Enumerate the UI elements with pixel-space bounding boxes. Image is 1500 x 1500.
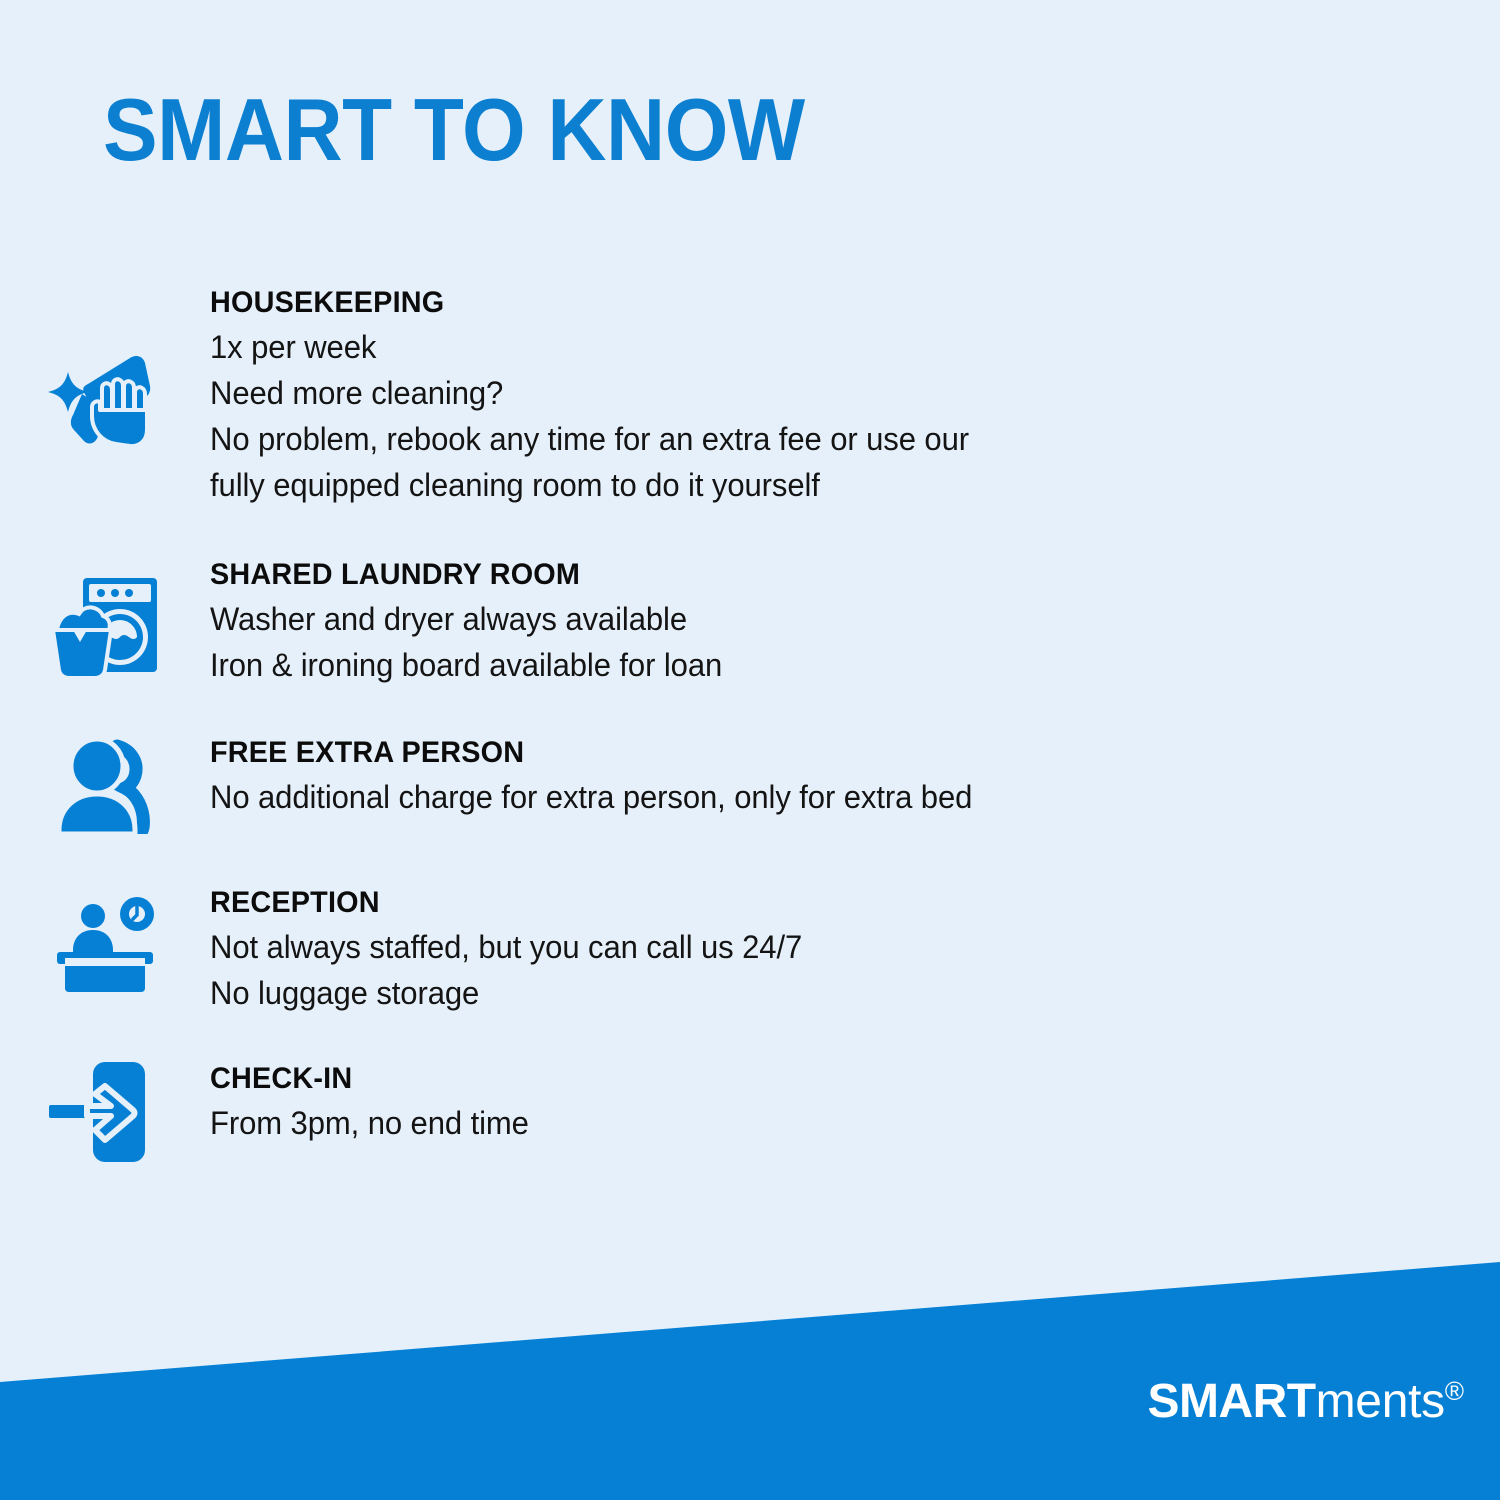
text-cell: SHARED LAUNDRY ROOM Washer and dryer alw… — [210, 554, 738, 688]
icon-cell — [0, 882, 210, 992]
washing-machine-icon — [49, 574, 161, 678]
text-cell: RECEPTION Not always staffed, but you ca… — [210, 882, 820, 1016]
item-line: fully equipped cleaning room to do it yo… — [210, 462, 969, 508]
item-line: No luggage storage — [210, 970, 802, 1016]
text-cell: FREE EXTRA PERSON No additional charge f… — [210, 732, 996, 820]
text-cell: HOUSEKEEPING 1x per week Need more clean… — [210, 282, 992, 508]
item-title: SHARED LAUNDRY ROOM — [210, 554, 717, 596]
list-item: FREE EXTRA PERSON No additional charge f… — [0, 732, 1500, 834]
item-line: Not always staffed, but you can call us … — [210, 924, 802, 970]
item-title: HOUSEKEEPING — [210, 282, 961, 324]
check-in-door-arrow-icon — [47, 1058, 163, 1166]
item-title: FREE EXTRA PERSON — [210, 732, 964, 774]
poster-page: SMART TO KNOW — [0, 0, 1500, 1500]
page-title: SMART TO KNOW — [103, 82, 805, 178]
registered-trademark-icon: ® — [1445, 1376, 1464, 1406]
reception-desk-icon — [49, 896, 161, 992]
list-item: HOUSEKEEPING 1x per week Need more clean… — [0, 282, 1500, 508]
two-people-icon — [55, 738, 155, 834]
item-line: Washer and dryer always available — [210, 596, 722, 642]
icon-cell — [0, 554, 210, 678]
icon-cell — [0, 732, 210, 834]
text-cell: CHECK-IN From 3pm, no end time — [210, 1058, 539, 1146]
info-list: HOUSEKEEPING 1x per week Need more clean… — [0, 282, 1500, 1166]
item-line: No additional charge for extra person, o… — [210, 774, 972, 820]
logo-light-text: ments — [1316, 1375, 1445, 1428]
list-item: CHECK-IN From 3pm, no end time — [0, 1058, 1500, 1166]
item-line: No problem, rebook any time for an extra… — [210, 416, 969, 462]
list-item: SHARED LAUNDRY ROOM Washer and dryer alw… — [0, 554, 1500, 688]
cleaning-hand-icon — [46, 344, 164, 456]
item-line: Need more cleaning? — [210, 370, 969, 416]
item-line: 1x per week — [210, 324, 969, 370]
brand-logo: SMARTments® — [1147, 1376, 1464, 1428]
item-title: RECEPTION — [210, 882, 796, 924]
icon-cell — [0, 1058, 210, 1166]
item-line: Iron & ironing board available for loan — [210, 642, 722, 688]
list-item: RECEPTION Not always staffed, but you ca… — [0, 882, 1500, 1016]
item-line: From 3pm, no end time — [210, 1100, 529, 1146]
logo-bold-text: SMART — [1147, 1375, 1315, 1428]
icon-cell — [0, 282, 210, 456]
item-title: CHECK-IN — [210, 1058, 526, 1100]
